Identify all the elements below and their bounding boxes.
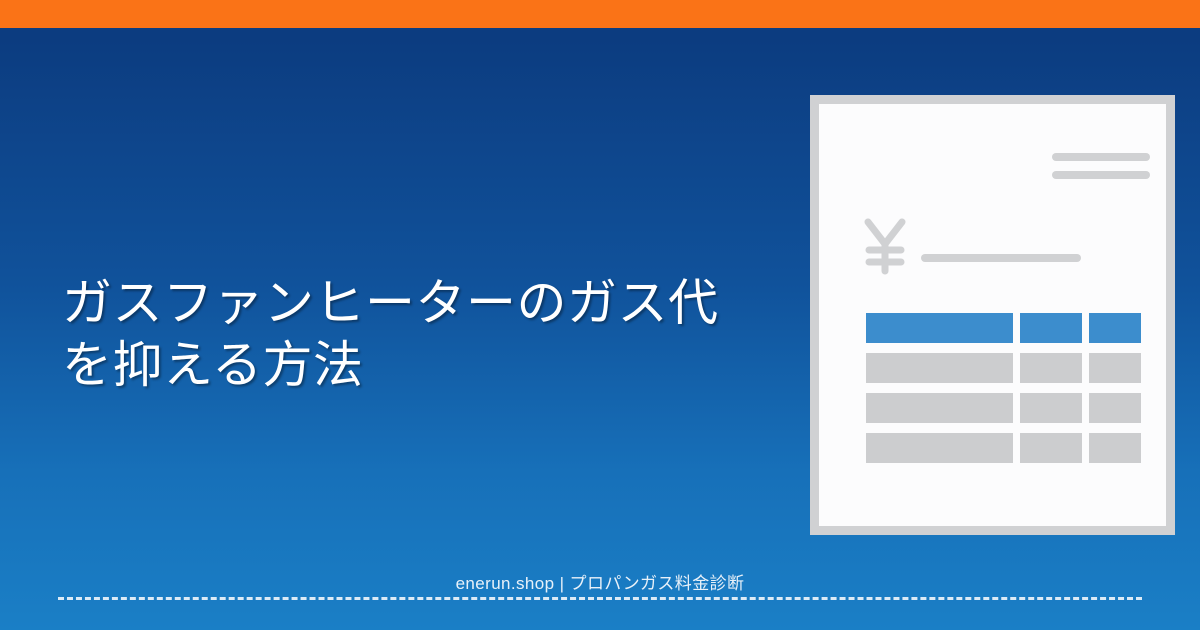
table-cell [866,433,1013,463]
table-row [866,393,1141,423]
table-row [866,353,1141,383]
yen-currency-icon [863,217,907,275]
document-header-line-2 [1052,171,1150,179]
footer: enerun.shop | プロパンガス料金診断 [0,570,1200,598]
document-header-line-1 [1052,153,1150,161]
table-cell [1020,353,1082,383]
table-cell [1089,353,1141,383]
table-cell [866,393,1013,423]
og-image-card: ガスファンヒーターのガス代を抑える方法 [0,0,1200,630]
footer-branding-text: enerun.shop | プロパンガス料金診断 [442,571,759,597]
footer-divider [58,597,1142,600]
amount-placeholder-line [921,254,1081,262]
table-cell [1089,433,1141,463]
table-cell [1020,393,1082,423]
table-cell [866,353,1013,383]
page-title: ガスファンヒーターのガス代を抑える方法 [62,272,752,396]
table-header-cell [866,313,1013,343]
table-header-cell [1020,313,1082,343]
top-accent-bar [0,0,1200,28]
table-cell [1089,393,1141,423]
bill-table [866,313,1141,463]
table-header-row [866,313,1141,343]
table-header-cell [1089,313,1141,343]
table-cell [1020,433,1082,463]
table-row [866,433,1141,463]
gas-bill-document-illustration [810,95,1175,535]
